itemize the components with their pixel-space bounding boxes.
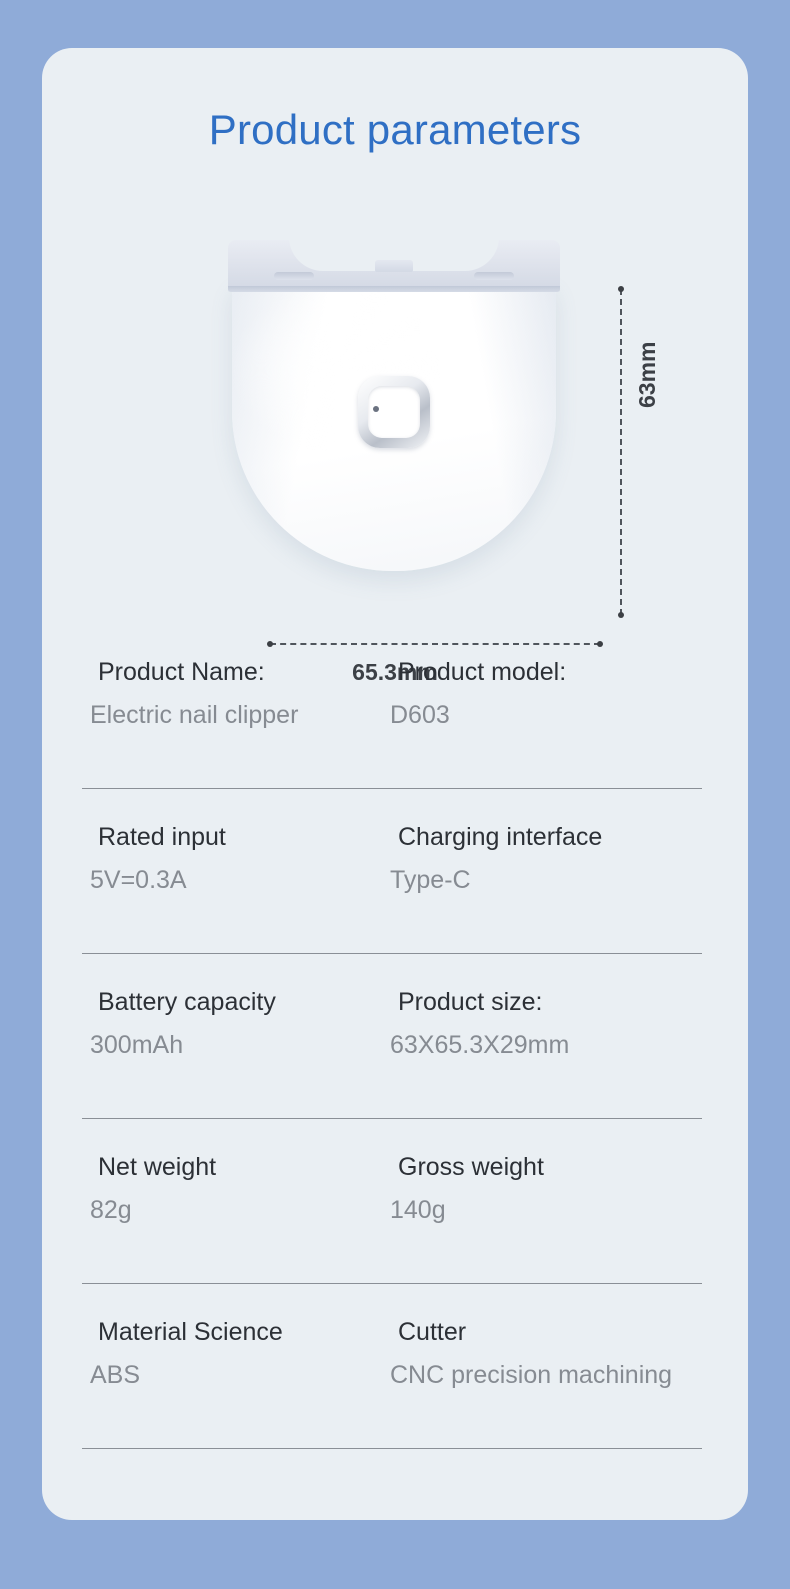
spec-label: Material Science	[90, 1318, 283, 1347]
spec-row: Rated input 5V=0.3A Charging interface T…	[42, 823, 748, 988]
product-illustration: 63mm 65.3mm	[42, 223, 748, 688]
spec-label: Net weight	[90, 1153, 216, 1182]
spec-cell-charging-interface: Charging interface Type-C	[390, 823, 730, 895]
spec-label: Battery capacity	[90, 988, 276, 1017]
spec-row: Material Science ABS Cutter CNC precisio…	[42, 1318, 748, 1483]
spec-cell-product-name: Product Name: Electric nail clipper	[90, 658, 390, 730]
page-title: Product parameters	[42, 106, 748, 154]
spec-value: 82g	[90, 1196, 390, 1225]
spec-cell-material-science: Material Science ABS	[90, 1318, 390, 1390]
row-divider	[82, 1118, 702, 1119]
width-dimension-dot-right	[597, 641, 603, 647]
spec-cell-net-weight: Net weight 82g	[90, 1153, 390, 1225]
spec-row: Net weight 82g Gross weight 140g	[42, 1153, 748, 1318]
product-cap-slot-right	[474, 272, 514, 280]
spec-cell-cutter: Cutter CNC precision machining	[390, 1318, 730, 1390]
spec-value: Type-C	[390, 866, 730, 895]
product-top-cap	[228, 240, 560, 292]
spec-row: Battery capacity 300mAh Product size: 63…	[42, 988, 748, 1153]
spec-label: Gross weight	[390, 1153, 544, 1182]
spec-value: 300mAh	[90, 1031, 390, 1060]
row-divider	[82, 788, 702, 789]
product-power-button-inner	[368, 386, 420, 438]
spec-row: Product Name: Electric nail clipper Prod…	[42, 658, 748, 823]
spec-value: 5V=0.3A	[90, 866, 390, 895]
product-parameters-card: Product parameters 63mm 65.3mm	[42, 48, 748, 1520]
spec-label: Charging interface	[390, 823, 602, 852]
product-power-button	[358, 376, 430, 448]
product-body	[232, 281, 556, 571]
spec-value: ABS	[90, 1361, 390, 1390]
spec-value: CNC precision machining	[390, 1361, 730, 1390]
height-dimension-dot-bottom	[618, 612, 624, 618]
row-divider	[82, 1283, 702, 1284]
spec-cell-gross-weight: Gross weight 140g	[390, 1153, 730, 1225]
row-divider	[82, 1448, 702, 1449]
width-dimension-dot-left	[267, 641, 273, 647]
spec-label: Product model:	[390, 658, 566, 687]
spec-value: Electric nail clipper	[90, 701, 390, 730]
spec-label: Cutter	[390, 1318, 466, 1347]
spec-cell-product-size: Product size: 63X65.3X29mm	[390, 988, 730, 1060]
product-cap-edge	[228, 286, 560, 292]
width-dimension-line	[270, 643, 600, 645]
product-led-indicator	[373, 406, 379, 412]
spec-value: 140g	[390, 1196, 730, 1225]
height-dimension-line	[620, 289, 622, 615]
spec-value: 63X65.3X29mm	[390, 1031, 730, 1060]
height-dimension-dot-top	[618, 286, 624, 292]
spec-label: Rated input	[90, 823, 226, 852]
specifications-table: Product Name: Electric nail clipper Prod…	[42, 658, 748, 1483]
product-cap-tab	[375, 260, 413, 272]
product-cap-slot-left	[274, 272, 314, 280]
spec-cell-rated-input: Rated input 5V=0.3A	[90, 823, 390, 895]
spec-cell-battery-capacity: Battery capacity 300mAh	[90, 988, 390, 1060]
spec-label: Product Name:	[90, 658, 265, 687]
height-dimension-label: 63mm	[634, 342, 661, 408]
spec-cell-product-model: Product model: D603	[390, 658, 730, 730]
row-divider	[82, 953, 702, 954]
spec-label: Product size:	[390, 988, 543, 1017]
spec-value: D603	[390, 701, 730, 730]
